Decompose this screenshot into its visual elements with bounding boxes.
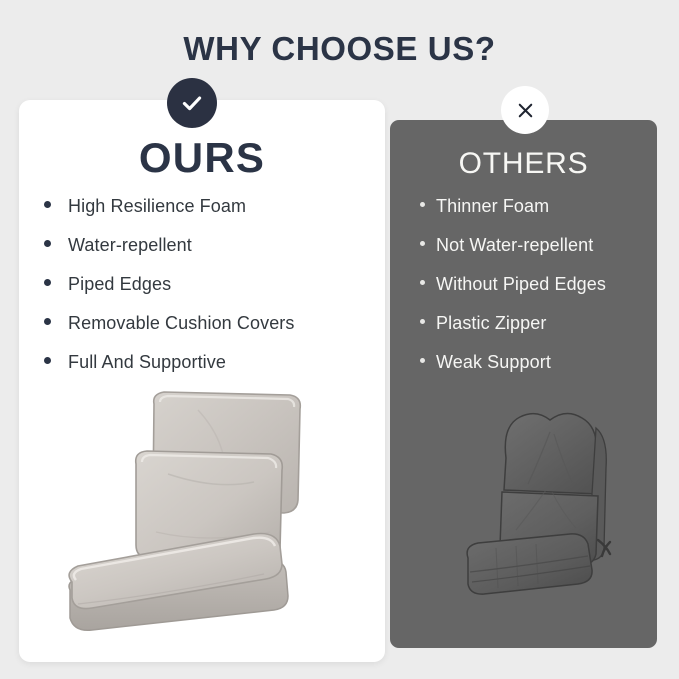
page-title: WHY CHOOSE US? [0,29,679,69]
list-item-label: Without Piped Edges [436,274,606,295]
list-item-label: Removable Cushion Covers [68,313,295,334]
others-feature-list: Thinner Foam Not Water-repellent Without… [420,196,655,391]
check-icon [179,90,205,116]
bullet-icon [44,240,51,247]
list-item-label: Plastic Zipper [436,313,546,334]
cross-badge [501,86,549,134]
bullet-icon [420,358,425,363]
list-item: Without Piped Edges [420,274,655,313]
bullet-icon [44,279,51,286]
close-icon [514,99,537,122]
bullet-icon [44,318,51,325]
others-product-image [458,398,642,620]
list-item: Piped Edges [44,274,374,313]
ours-product-image [48,382,348,654]
list-item: Weak Support [420,352,655,391]
list-item: Water-repellent [44,235,374,274]
dark-cushion-illustration [458,398,642,620]
bullet-icon [44,357,51,364]
bullet-icon [420,280,425,285]
list-item: Thinner Foam [420,196,655,235]
list-item: Full And Supportive [44,352,374,391]
list-item-label: Water-repellent [68,235,192,256]
check-badge [167,78,217,128]
bullet-icon [420,241,425,246]
ours-feature-list: High Resilience Foam Water-repellent Pip… [44,196,374,391]
list-item-label: Piped Edges [68,274,171,295]
bullet-icon [44,201,51,208]
list-item: Removable Cushion Covers [44,313,374,352]
comparison-infographic: WHY CHOOSE US? OURS High Resilience Foam… [0,0,679,679]
list-item: High Resilience Foam [44,196,374,235]
ours-heading: OURS [19,133,385,183]
list-item-label: Thinner Foam [436,196,549,217]
light-cushion-illustration [48,382,348,654]
list-item: Plastic Zipper [420,313,655,352]
list-item-label: Weak Support [436,352,551,373]
list-item-label: Full And Supportive [68,352,226,373]
bullet-icon [420,202,425,207]
others-heading: OTHERS [390,145,657,183]
bullet-icon [420,319,425,324]
list-item-label: High Resilience Foam [68,196,246,217]
list-item: Not Water-repellent [420,235,655,274]
list-item-label: Not Water-repellent [436,235,593,256]
